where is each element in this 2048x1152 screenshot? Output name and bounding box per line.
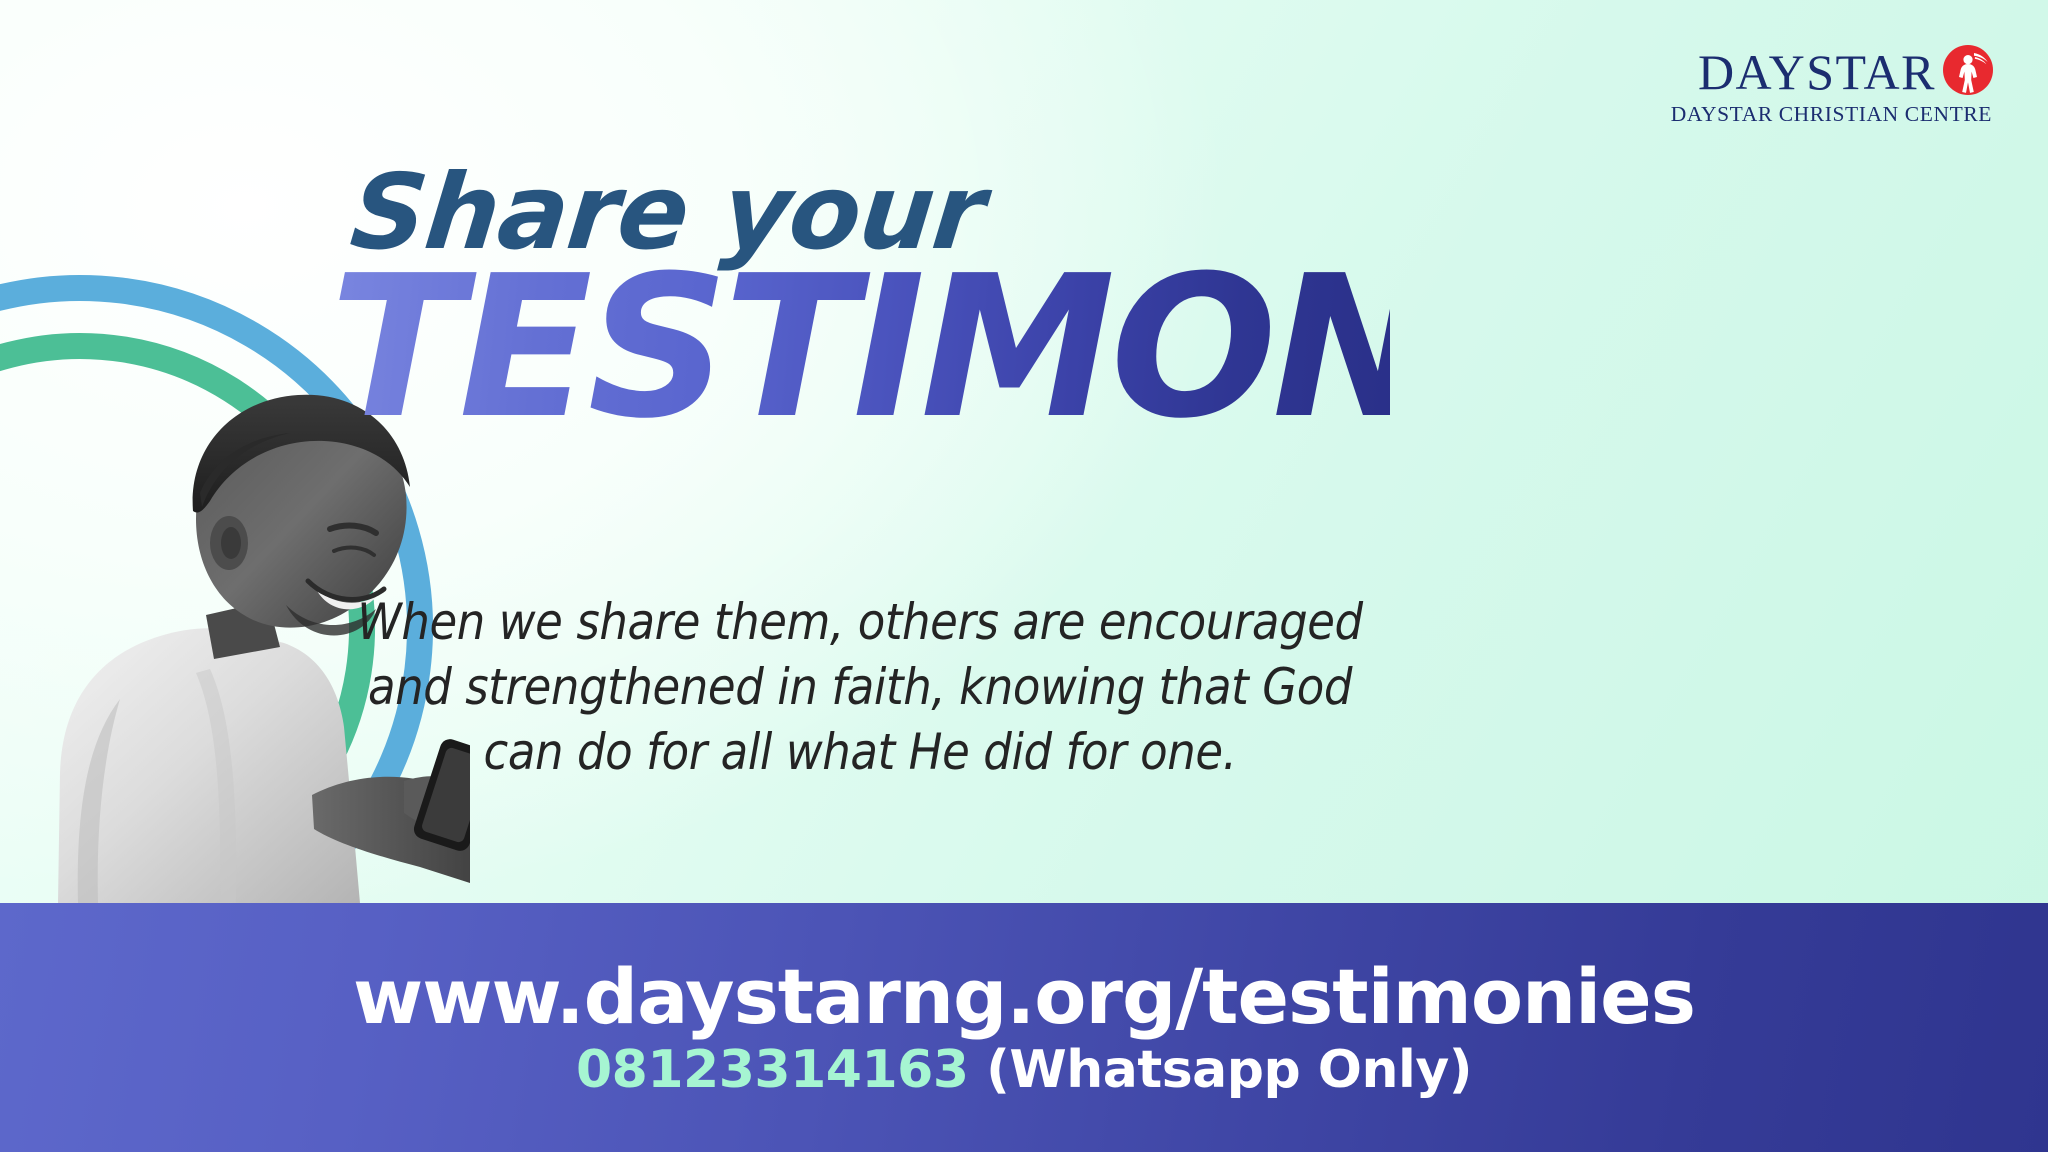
footer-phone-number[interactable]: 08123314163 bbox=[576, 1040, 969, 1100]
daystar-person-circle-icon bbox=[1942, 44, 1994, 96]
logo-top-row: DAYSTAR bbox=[1644, 44, 1994, 100]
headline-script-line: Share your bbox=[325, 160, 1396, 264]
paragraph-line-3: can do for all what He did for one. bbox=[330, 720, 1390, 785]
footer-phone-note: (Whatsapp Only) bbox=[986, 1040, 1472, 1100]
headline-block: Share your TESTIMONY bbox=[330, 160, 1390, 438]
paragraph-line-1: When we share them, others are encourage… bbox=[330, 590, 1390, 655]
footer-bar: www.daystarng.org/testimonies 0812331416… bbox=[0, 903, 2048, 1152]
footer-website-url[interactable]: www.daystarng.org/testimonies bbox=[353, 957, 1695, 1037]
paragraph-line-2: and strengthened in faith, knowing that … bbox=[330, 655, 1390, 720]
logo-wordmark: DAYSTAR bbox=[1698, 47, 1936, 97]
headline-big-word: TESTIMONY bbox=[330, 258, 1390, 438]
footer-phone-row: 08123314163 (Whatsapp Only) bbox=[576, 1043, 1472, 1098]
body-paragraph: When we share them, others are encourage… bbox=[330, 590, 1390, 785]
testimony-promo-banner: DAYSTAR DAYSTAR CHRISTIAN CENTRE Share y… bbox=[0, 0, 2048, 1152]
logo-subtitle: DAYSTAR CHRISTIAN CENTRE bbox=[1644, 102, 1992, 127]
daystar-logo: DAYSTAR DAYSTAR CHRISTIAN CENTRE bbox=[1644, 44, 1994, 127]
